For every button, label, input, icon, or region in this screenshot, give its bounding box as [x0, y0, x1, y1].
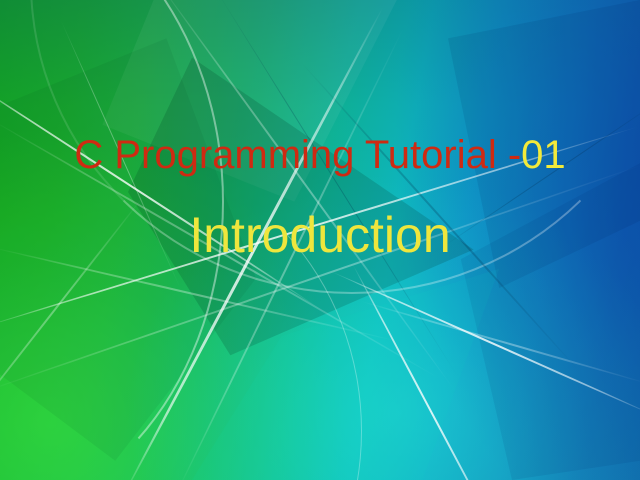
slide-title-number: 01 — [521, 133, 566, 177]
slide-text-block: C Programming Tutorial -01 Introduction — [0, 0, 640, 480]
title-slide: C Programming Tutorial -01 Introduction — [0, 0, 640, 480]
slide-title: C Programming Tutorial -01 — [0, 131, 640, 179]
slide-subtitle: Introduction — [0, 206, 640, 264]
slide-title-main: C Programming Tutorial - — [74, 133, 521, 177]
